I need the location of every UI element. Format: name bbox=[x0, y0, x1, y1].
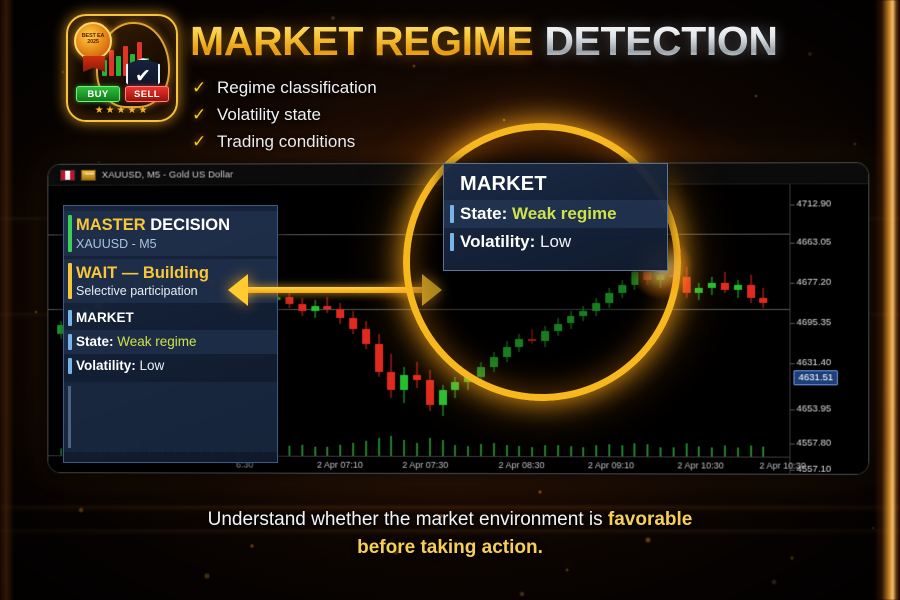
market-heading: MARKET bbox=[76, 310, 268, 325]
volume-bar bbox=[582, 447, 584, 456]
candlestick bbox=[375, 185, 383, 456]
candlestick bbox=[682, 185, 690, 457]
feature-bullet-label: Regime classification bbox=[217, 78, 377, 98]
candlestick bbox=[760, 184, 768, 456]
product-logo-badge: BEST EA 2025 ✔ BUY SELL ★★★★★ bbox=[66, 14, 178, 122]
panel-empty-region bbox=[64, 382, 277, 452]
current-price-badge: 4631.51 bbox=[793, 370, 838, 385]
candle-body bbox=[747, 285, 755, 298]
check-icon: ✓ bbox=[192, 79, 207, 96]
volume-bar bbox=[288, 446, 290, 456]
candlestick bbox=[362, 185, 370, 456]
volume-bar bbox=[352, 443, 354, 456]
candlestick bbox=[349, 185, 357, 456]
page-title-primary: MARKET REGIME bbox=[190, 18, 533, 64]
volume-bar bbox=[442, 440, 444, 456]
price-tick-label: 4663.05 bbox=[797, 237, 832, 248]
candlestick bbox=[286, 185, 294, 455]
accent-bar bbox=[68, 215, 72, 252]
volume-bar bbox=[621, 445, 623, 456]
time-tick-label: 2 Apr 08:30 bbox=[499, 460, 545, 470]
volume-bar bbox=[698, 447, 700, 457]
candle-body bbox=[734, 285, 742, 290]
candle-body bbox=[695, 288, 703, 293]
candle-body bbox=[375, 344, 383, 372]
master-decision-panel[interactable]: MASTER DECISION XAUUSD - M5 WAIT — Build… bbox=[63, 205, 278, 463]
denmark-flag-icon bbox=[60, 169, 75, 180]
volatility-key: Volatility: bbox=[76, 358, 136, 373]
accent-bar bbox=[68, 386, 71, 448]
buy-button[interactable]: BUY bbox=[76, 86, 120, 102]
candle-body bbox=[760, 298, 768, 303]
candle-body bbox=[311, 306, 319, 311]
candle-body bbox=[286, 297, 294, 305]
candlestick bbox=[747, 184, 755, 456]
volume-bar bbox=[403, 439, 405, 455]
accent-bar bbox=[68, 358, 72, 374]
candlestick bbox=[721, 185, 729, 457]
volume-bar bbox=[339, 445, 341, 456]
price-tick-label: 4695.35 bbox=[797, 317, 832, 328]
volume-bar bbox=[365, 441, 367, 456]
page-title: MARKET REGIME DETECTION bbox=[190, 18, 778, 65]
connector-arrow-line bbox=[243, 287, 425, 293]
magnified-market-header: MARKET bbox=[444, 169, 667, 200]
accent-bar bbox=[68, 334, 72, 350]
candlestick bbox=[311, 185, 319, 455]
magnified-state-key: State: bbox=[460, 204, 507, 223]
volume-bar bbox=[724, 446, 726, 457]
panel-symbol-timeframe: XAUUSD - M5 bbox=[76, 237, 268, 251]
price-tick-label: 4631.40 bbox=[797, 357, 832, 368]
feature-bullet: ✓ Regime classification bbox=[192, 74, 377, 101]
volume-bar bbox=[608, 444, 610, 456]
time-tick-label: 2 Apr 10:30 bbox=[759, 461, 805, 471]
volume-bar bbox=[595, 446, 597, 457]
volume-bar bbox=[390, 435, 392, 455]
candle-body bbox=[388, 372, 396, 390]
feature-bullet: ✓ Trading conditions bbox=[192, 128, 377, 155]
arrow-left-head-icon bbox=[228, 274, 248, 306]
price-tick-label: 4557.80 bbox=[797, 438, 832, 449]
panel-market-volatility: Volatility: Low bbox=[64, 354, 277, 378]
state-key: State: bbox=[76, 334, 114, 349]
feature-bullets: ✓ Regime classification ✓ Volatility sta… bbox=[192, 74, 377, 155]
time-tick-label: 2 Apr 07:10 bbox=[317, 460, 363, 470]
candle-wick bbox=[327, 297, 328, 314]
candle-body bbox=[336, 309, 344, 318]
volume-bar bbox=[416, 443, 418, 456]
candlestick bbox=[324, 185, 332, 456]
magnified-heading: MARKET bbox=[460, 173, 659, 196]
volume-bar bbox=[506, 445, 508, 456]
candle-body bbox=[362, 329, 370, 344]
magnified-volatility-value: Low bbox=[540, 232, 571, 251]
volume-bar bbox=[518, 446, 520, 456]
accent-bar bbox=[68, 263, 72, 300]
magnified-state-value: Weak regime bbox=[512, 204, 617, 223]
volume-bar bbox=[480, 444, 482, 456]
time-tick-label: 2 Apr 07:30 bbox=[402, 460, 448, 470]
volume-bar bbox=[327, 447, 329, 456]
accent-bar bbox=[68, 310, 72, 326]
candle-body bbox=[349, 318, 357, 328]
volume-bar bbox=[634, 443, 636, 456]
magnifier-callout: MARKET State: Weak regime Volatility: Lo… bbox=[403, 123, 681, 401]
decision-label: DECISION bbox=[150, 216, 230, 234]
state-value: Weak regime bbox=[117, 334, 196, 349]
magnified-volatility-key: Volatility: bbox=[460, 232, 535, 251]
volume-bar bbox=[672, 448, 674, 457]
volume-bar bbox=[647, 444, 649, 456]
candle-body bbox=[324, 306, 332, 310]
panel-market-state: State: Weak regime bbox=[64, 330, 277, 354]
volume-bar bbox=[750, 445, 752, 456]
accent-bar bbox=[450, 205, 454, 223]
caption-lead: Understand whether the market environmen… bbox=[208, 509, 608, 530]
candlestick bbox=[708, 185, 716, 457]
candle-body bbox=[721, 282, 729, 290]
volume-bar bbox=[314, 447, 316, 456]
price-tick-label: 4712.90 bbox=[797, 198, 832, 209]
volume-bar bbox=[763, 447, 765, 457]
volume-bar bbox=[493, 444, 495, 457]
check-icon: ✓ bbox=[192, 133, 207, 150]
time-tick-label: 2 Apr 10:30 bbox=[677, 460, 723, 470]
volatility-value: Low bbox=[140, 358, 165, 373]
check-icon: ✓ bbox=[192, 106, 207, 123]
volume-bar bbox=[454, 445, 456, 456]
price-tick-label: 4677.20 bbox=[797, 277, 832, 288]
sell-button[interactable]: SELL bbox=[125, 86, 169, 102]
caption-emphasis-2: before taking action. bbox=[357, 537, 543, 558]
volume-bar bbox=[737, 448, 739, 457]
candlestick bbox=[734, 184, 742, 456]
award-ribbon-icon: BEST EA 2025 bbox=[74, 22, 112, 60]
candlestick bbox=[298, 185, 306, 455]
magnified-market-card: MARKET State: Weak regime Volatility: Lo… bbox=[443, 163, 668, 271]
volume-bar bbox=[557, 445, 559, 456]
page-title-secondary: DETECTION bbox=[544, 18, 777, 64]
footer-caption: Understand whether the market environmen… bbox=[0, 506, 900, 561]
volume-bar bbox=[570, 446, 572, 456]
feature-bullet-label: Volatility state bbox=[217, 105, 321, 125]
poster-stage: BEST EA 2025 ✔ BUY SELL ★★★★★ MARKET REG… bbox=[0, 0, 900, 600]
magnified-state-row: State: Weak regime bbox=[444, 200, 667, 228]
caption-emphasis-1: favorable bbox=[608, 509, 692, 530]
volume-bar bbox=[301, 445, 303, 456]
volume-bar bbox=[378, 437, 380, 455]
price-axis[interactable]: 4712.904663.054677.204695.354631.404653.… bbox=[789, 184, 868, 474]
feature-bullet-label: Trading conditions bbox=[217, 132, 355, 152]
volume-bar bbox=[531, 448, 533, 457]
feature-bullet: ✓ Volatility state bbox=[192, 101, 377, 128]
volume-bar bbox=[429, 438, 431, 456]
accent-bar bbox=[450, 233, 454, 251]
candle-body bbox=[708, 282, 716, 287]
volume-bar bbox=[467, 446, 469, 456]
candlestick bbox=[388, 185, 396, 456]
time-tick-label: 2 Apr 09:10 bbox=[588, 460, 634, 470]
volume-bar bbox=[544, 446, 546, 457]
rating-stars: ★★★★★ bbox=[68, 105, 176, 116]
chart-symbol-label: XAUUSD, M5 - Gold US Dollar bbox=[102, 169, 234, 180]
candlestick bbox=[336, 185, 344, 456]
panel-market-header: MARKET bbox=[64, 306, 277, 330]
panel-master-decision: MASTER DECISION XAUUSD - M5 bbox=[64, 211, 277, 256]
magnified-volatility-row: Volatility: Low bbox=[444, 228, 667, 256]
volume-bar bbox=[711, 447, 713, 456]
master-label: MASTER bbox=[76, 216, 146, 234]
price-tick-label: 4653.95 bbox=[797, 403, 832, 414]
gold-bar-icon bbox=[81, 169, 96, 180]
volume-bar bbox=[660, 447, 662, 456]
volume-bar bbox=[685, 444, 687, 457]
candle-body bbox=[298, 304, 306, 310]
candlestick bbox=[695, 185, 703, 457]
